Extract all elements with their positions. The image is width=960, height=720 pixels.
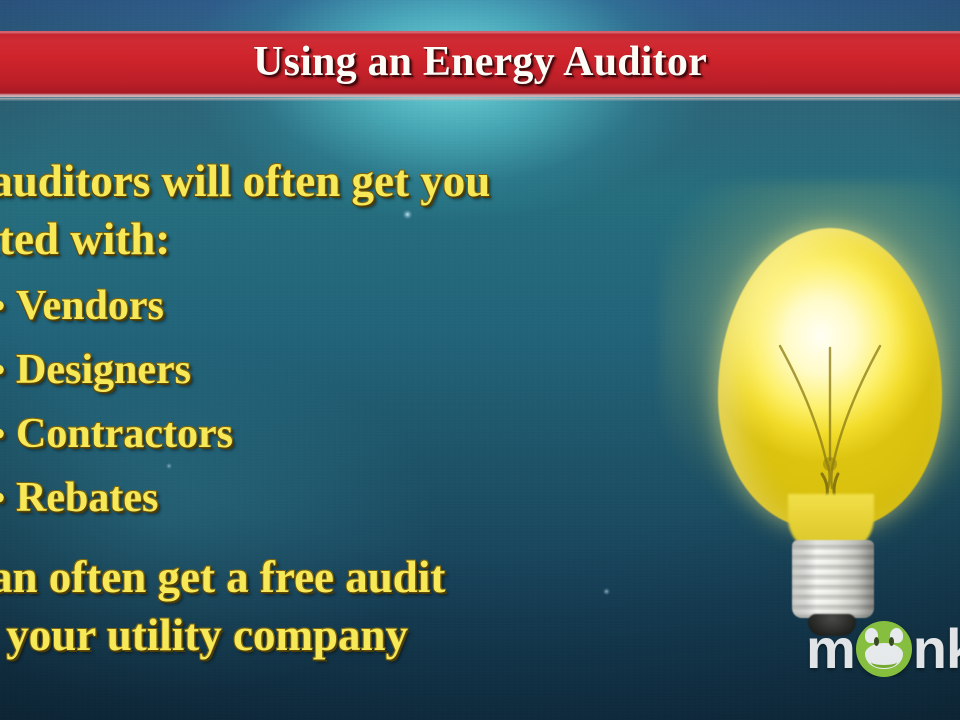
monkey-ears-icon: [864, 628, 904, 644]
video-slide: Using an Energy Auditor gy auditors will…: [0, 0, 960, 720]
list-item: • Rebates: [0, 477, 492, 541]
page-title: Using an Energy Auditor: [0, 31, 960, 95]
list-item-label: Contractors: [16, 413, 233, 455]
list-item-label: Rebates: [16, 477, 158, 519]
monkey-mouth-icon: [871, 656, 897, 668]
monkey-eye-left-icon: [874, 637, 879, 646]
watermark-logo: m nk: [806, 614, 960, 684]
list-item: • Designers: [0, 349, 492, 413]
light-bulb-icon: [700, 222, 960, 642]
light-bulb-screw-base: [792, 540, 874, 618]
bullet-dot-icon: •: [0, 414, 6, 454]
bullet-dot-icon: •: [0, 478, 6, 518]
bullet-dot-icon: •: [0, 350, 6, 390]
title-banner: Using an Energy Auditor: [0, 31, 960, 97]
light-bulb-filament-icon: [718, 228, 942, 528]
monkey-muzzle-icon: [865, 643, 903, 669]
monkey-face-icon: [856, 621, 912, 677]
bullet-dot-icon: •: [0, 286, 6, 326]
watermark-logo-clip: m nk: [806, 621, 960, 677]
list-item: • Contractors: [0, 413, 492, 477]
list-item: • Vendors: [0, 285, 492, 349]
watermark-text-after: nk: [913, 621, 960, 677]
list-item-label: Designers: [16, 349, 191, 391]
list-item-label: Vendors: [16, 285, 164, 327]
monkey-eye-right-icon: [889, 637, 894, 646]
bullet-list: • Vendors • Designers • Contractors • Re…: [0, 285, 492, 541]
watermark-text-before: m: [806, 621, 855, 677]
